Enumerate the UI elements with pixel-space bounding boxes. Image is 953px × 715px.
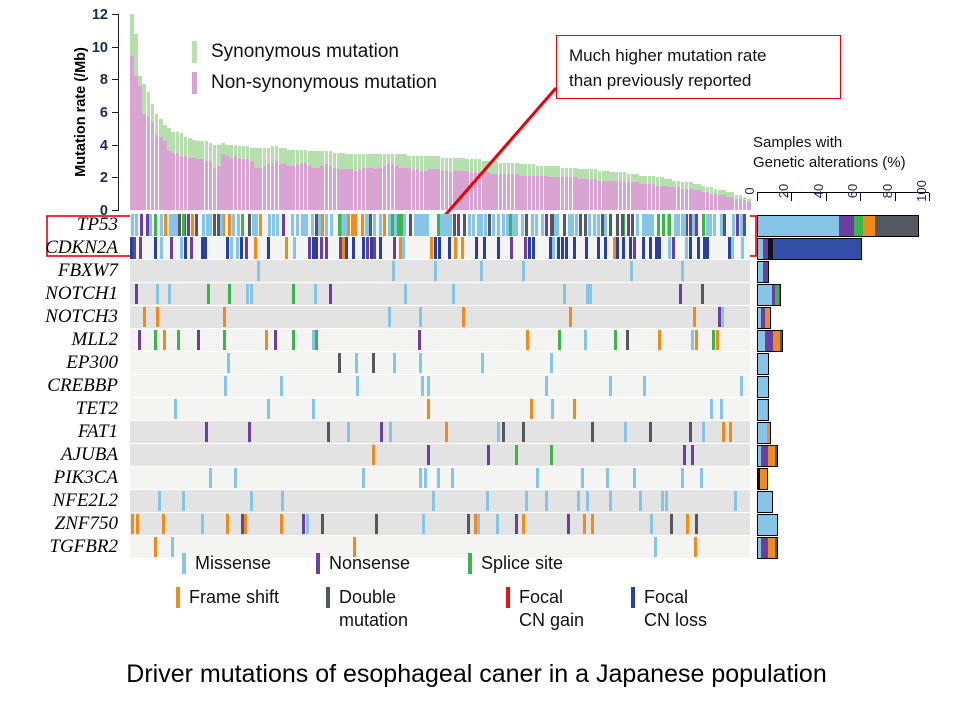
oncoprint-mark	[404, 284, 407, 304]
oncoprint-row-mll2	[130, 329, 750, 351]
bar-segment-synonymous	[176, 132, 180, 153]
bar-segment-non-synonymous	[188, 158, 192, 210]
oncoprint-mark	[320, 237, 323, 259]
oncoprint-mark	[237, 214, 240, 236]
bar-segment-non-synonymous	[474, 172, 478, 210]
oncoprint-mark	[712, 330, 715, 350]
oncoprint-mark	[670, 514, 673, 534]
oncoprint-mark	[154, 537, 157, 557]
bar-segment-non-synonymous	[610, 181, 614, 210]
bar-segment-non-synonymous	[180, 156, 184, 210]
bar-segment-non-synonymous	[652, 184, 656, 210]
bar-segment-synonymous	[494, 161, 498, 174]
bar-segment-non-synonymous	[689, 189, 693, 210]
percent-segment	[758, 377, 768, 397]
oncoprint-mark	[588, 214, 591, 236]
gene-label-pik3ca: PIK3CA	[0, 467, 126, 490]
oncoprint-mark	[486, 491, 489, 511]
oncoprint-mark	[541, 214, 544, 236]
oncoprint-mark	[388, 307, 391, 327]
double-mutation-swatch-icon	[326, 587, 330, 608]
bar-segment-non-synonymous	[449, 172, 453, 210]
oncoprint-mark	[154, 330, 157, 350]
legend-item-missense: Missense	[182, 552, 271, 575]
bar-segment-synonymous	[635, 174, 639, 182]
oncoprint-mark	[551, 399, 554, 419]
oncoprint-mark	[293, 237, 296, 259]
oncoprint-mark	[168, 284, 171, 304]
bar-segment-synonymous	[544, 166, 548, 176]
percent-segment	[768, 446, 775, 466]
gene-label-znf750: ZNF750	[0, 513, 126, 536]
oncoprint-mark	[528, 237, 531, 259]
oncoprint-mark	[536, 468, 539, 488]
gene-label-mll2: MLL2	[0, 329, 126, 352]
oncoprint-mark	[280, 514, 283, 534]
bar-segment-non-synonymous	[470, 172, 474, 210]
mutation-rate-bar	[544, 14, 548, 210]
y-axis-tick-label: 2	[100, 170, 108, 186]
bar-segment-synonymous	[250, 148, 254, 161]
oncoprint-mark	[557, 237, 560, 259]
oncoprint-mark	[171, 537, 174, 557]
mutation-rate-bar	[532, 14, 536, 210]
oncoprint-mark	[732, 214, 735, 236]
oncoprint-row-notch3	[130, 306, 750, 328]
percent-row-znf750	[757, 513, 937, 536]
oncoprint-mark	[567, 514, 570, 534]
percent-bar-tet2	[757, 399, 769, 421]
percent-bar-znf750	[757, 514, 778, 536]
oncoprint-mark	[321, 514, 324, 534]
bar-segment-non-synonymous	[672, 187, 676, 210]
oncoprint-mark	[209, 468, 212, 488]
bar-segment-synonymous	[561, 168, 565, 178]
gene-label-tgfbr2: TGFBR2	[0, 536, 126, 559]
bar-segment-non-synonymous	[320, 166, 324, 210]
percent-segment	[758, 285, 772, 305]
oncoprint-mark	[521, 214, 524, 236]
oncoprint-mark	[314, 284, 317, 304]
gene-label-fat1: FAT1	[0, 421, 126, 444]
percent-panel-title: Samples with Genetic alterations (%)	[753, 133, 906, 173]
gene-label-tp53: TP53	[0, 214, 126, 237]
bar-segment-synonymous	[585, 169, 589, 179]
bar-segment-synonymous	[581, 169, 585, 179]
legend-item-focal-cn-gain: FocalCN gain	[506, 586, 584, 632]
oncoprint-mark	[175, 214, 178, 236]
oncoprint-mark	[265, 330, 268, 350]
bar-segment-synonymous	[209, 143, 213, 161]
oncoprint-mark	[257, 261, 260, 281]
oncoprint-mark	[389, 422, 392, 442]
bar-segment-synonymous	[432, 156, 436, 169]
bar-segment-non-synonymous	[213, 168, 217, 210]
bar-segment-non-synonymous	[457, 171, 461, 210]
bar-segment-non-synonymous	[701, 192, 705, 210]
oncoprint-mark	[461, 237, 464, 259]
bar-segment-synonymous	[287, 150, 291, 166]
percent-bar-fbxw7	[757, 261, 769, 283]
oncoprint-mark	[565, 237, 568, 259]
oncoprint-mark	[563, 214, 566, 236]
bar-segment-non-synonymous	[635, 182, 639, 210]
bar-segment-non-synonymous	[387, 164, 391, 210]
bar-segment-non-synonymous	[722, 195, 726, 210]
oncoprint-mark	[230, 237, 233, 259]
bar-segment-synonymous	[507, 163, 511, 174]
callout-line-1: Much higher mutation rate	[569, 43, 830, 68]
bar-segment-synonymous	[395, 154, 399, 165]
bar-segment-synonymous	[602, 171, 606, 181]
oncoprint-mark	[525, 491, 528, 511]
bar-segment-non-synonymous	[668, 187, 672, 210]
oncoprint-mark	[302, 514, 305, 534]
bar-segment-non-synonymous	[569, 177, 573, 210]
oncoprint-mark	[276, 214, 279, 236]
legend-label: FocalCN gain	[519, 586, 584, 632]
bar-segment-non-synonymous	[482, 172, 486, 210]
bar-segment-non-synonymous	[581, 179, 585, 210]
oncoprint-mark	[736, 214, 739, 236]
mutation-rate-bar	[176, 14, 180, 210]
percent-axis-tick	[860, 193, 861, 201]
oncoprint-mark	[530, 399, 533, 419]
bar-segment-synonymous	[134, 34, 138, 76]
oncoprint-mark	[515, 445, 518, 465]
bar-segment-non-synonymous	[283, 164, 287, 210]
bar-segment-synonymous	[511, 163, 515, 174]
oncoprint-mark	[291, 214, 294, 236]
mutation-rate-bar	[445, 14, 449, 210]
oncoprint-mark	[245, 237, 248, 259]
bar-segment-synonymous	[606, 171, 610, 181]
oncoprint-mark	[497, 422, 500, 442]
oncoprint-mark	[369, 214, 372, 236]
oncoprint-mark	[403, 214, 406, 236]
bar-segment-synonymous	[163, 125, 167, 141]
oncoprint-mark	[728, 237, 731, 259]
oncoprint-mark	[550, 445, 553, 465]
bar-segment-non-synonymous	[234, 156, 238, 210]
bar-segment-non-synonymous	[561, 177, 565, 210]
oncoprint-mark	[657, 214, 660, 236]
oncoprint-mark	[285, 237, 288, 259]
bar-segment-non-synonymous	[656, 186, 660, 211]
bar-segment-synonymous	[424, 156, 428, 171]
mutation-rate-bar	[523, 14, 527, 210]
oncoprint-mark	[312, 399, 315, 419]
oncoprint-mark	[609, 376, 612, 396]
oncoprint-mark	[636, 214, 639, 236]
oncoprint-mark	[318, 214, 321, 236]
bar-segment-non-synonymous	[441, 171, 445, 210]
oncoprint-mark	[131, 214, 134, 236]
legend-item-synonymous: Synonymous mutation	[192, 36, 437, 67]
oncoprint-mark	[586, 491, 589, 511]
oncoprint-mark	[626, 330, 629, 350]
oncoprint-mark	[515, 214, 518, 236]
oncoprint-mark	[191, 214, 194, 236]
legend-label-non-synonymous: Non-synonymous mutation	[211, 72, 437, 94]
oncoprint-mark	[325, 237, 328, 259]
bar-segment-non-synonymous	[623, 182, 627, 210]
oncoprint-mark	[274, 330, 277, 350]
non-synonymous-swatch-icon	[192, 72, 197, 94]
legend-item-focal-cn-loss: FocalCN loss	[631, 586, 707, 632]
mutation-rate-bar	[548, 14, 552, 210]
bar-segment-synonymous	[337, 153, 341, 169]
oncoprint-mark	[140, 214, 143, 236]
oncoprint-mark	[321, 214, 324, 236]
oncoprint-mark	[370, 237, 373, 259]
bar-segment-non-synonymous	[739, 199, 743, 210]
oncoprint-mark	[621, 214, 624, 236]
y-axis-tick: 4	[112, 145, 119, 146]
bar-segment-non-synonymous	[383, 166, 387, 210]
percent-bar-tp53	[757, 215, 919, 237]
oncoprint-mark	[601, 214, 604, 236]
mutation-rate-bar	[503, 14, 507, 210]
bar-segment-synonymous	[515, 163, 519, 174]
bar-segment-synonymous	[536, 166, 540, 176]
bar-segment-non-synonymous	[573, 177, 577, 210]
bar-segment-non-synonymous	[606, 181, 610, 210]
bar-segment-synonymous	[474, 159, 478, 172]
oncoprint-mark	[697, 237, 700, 259]
oncoprint-mark	[182, 214, 185, 236]
oncoprint-mark	[136, 514, 139, 534]
oncoprint-mark	[604, 214, 607, 236]
figure-root: Mutation rate (/Mb) 024681012 Synonymous…	[0, 0, 953, 715]
bar-segment-synonymous	[660, 177, 664, 185]
bar-segment-synonymous	[316, 151, 320, 167]
bar-segment-synonymous	[329, 151, 333, 166]
oncoprint-mark	[589, 284, 592, 304]
oncoprint-mark	[710, 399, 713, 419]
oncoprint-mark	[691, 330, 694, 350]
oncoprint-mark	[701, 284, 704, 304]
focal-cn-loss-swatch-icon	[631, 587, 635, 608]
bar-segment-non-synonymous	[453, 171, 457, 210]
bar-segment-non-synonymous	[490, 174, 494, 210]
oncoprint-mark	[658, 237, 661, 259]
gene-label-fbxw7: FBXW7	[0, 260, 126, 283]
mutation-rate-bar	[494, 14, 498, 210]
oncoprint-mark	[315, 330, 318, 350]
oncoprint-mark	[399, 237, 402, 259]
bar-segment-synonymous	[205, 141, 209, 161]
oncoprint-mark	[525, 214, 528, 236]
bar-segment-non-synonymous	[735, 199, 739, 210]
oncoprint-mark	[311, 214, 314, 236]
oncoprint-mark	[419, 307, 422, 327]
oncoprint-mark	[689, 422, 692, 442]
oncoprint-mark	[706, 214, 709, 236]
bar-segment-non-synonymous	[250, 161, 254, 210]
oncoprint-mark	[452, 284, 455, 304]
oncoprint-mark	[586, 284, 589, 304]
oncoprint-mark	[642, 237, 645, 259]
oncoprint-row-nfe2l2	[130, 490, 750, 512]
oncoprint-mark	[139, 237, 142, 259]
mutation-rate-bar	[528, 14, 532, 210]
oncoprint-mark	[362, 468, 365, 488]
oncoprint-mark	[522, 261, 525, 281]
mutation-rate-bar	[167, 14, 171, 210]
oncoprint-mark	[226, 514, 229, 534]
oncoprint-mark	[232, 214, 235, 236]
bar-segment-synonymous	[573, 168, 577, 178]
percent-axis-tick-label: 0	[742, 187, 757, 194]
oncoprint-mark	[162, 514, 165, 534]
oncoprint-mark	[685, 237, 688, 259]
oncoprint-mark	[156, 307, 159, 327]
bar-segment-non-synonymous	[242, 159, 246, 210]
oncoprint-mark	[633, 237, 636, 259]
bar-segment-non-synonymous	[354, 171, 358, 210]
bar-segment-synonymous	[138, 76, 142, 86]
oncoprint-mark	[418, 330, 421, 350]
mutation-rate-bar	[155, 14, 159, 210]
oncoprint-mark	[622, 237, 625, 259]
oncoprint-mark	[308, 237, 311, 259]
oncoprint-mark	[169, 214, 172, 236]
oncoprint-mark	[228, 284, 231, 304]
bar-segment-non-synonymous	[171, 153, 175, 210]
oncoprint-mark	[414, 214, 417, 236]
percent-bar-mll2	[757, 330, 783, 352]
oncoprint-mark	[575, 214, 578, 236]
oncoprint-mark	[437, 214, 440, 236]
mutation-rate-bar	[478, 14, 482, 210]
percent-row-crebbp	[757, 375, 937, 398]
bar-segment-non-synonymous	[499, 174, 503, 210]
oncoprint-mark	[422, 514, 425, 534]
oncoprint-mark	[250, 284, 253, 304]
percent-row-ajuba	[757, 444, 937, 467]
oncoprint-mark	[515, 514, 518, 534]
oncoprint-mark	[133, 237, 136, 259]
bar-segment-non-synonymous	[378, 168, 382, 210]
bar-segment-synonymous	[147, 92, 151, 117]
oncoprint-mark	[379, 237, 382, 259]
oncoprint-mark	[577, 491, 580, 511]
oncoprint-mark	[613, 237, 616, 259]
oncoprint-mark	[182, 491, 185, 511]
figure-caption: Driver mutations of esophageal caner in …	[0, 660, 953, 689]
callout-line-2: than previously reported	[569, 68, 830, 93]
oncoprint-mark	[205, 422, 208, 442]
oncoprint-mark	[556, 214, 559, 236]
bar-segment-non-synonymous	[217, 166, 221, 210]
bar-segment-non-synonymous	[465, 171, 469, 210]
oncoprint-mark	[686, 514, 689, 534]
bar-segment-synonymous	[362, 154, 366, 167]
oncoprint-mark	[549, 237, 552, 259]
bar-segment-synonymous	[668, 179, 672, 187]
oncoprint-mark	[373, 237, 376, 259]
oncoprint-mark	[449, 214, 452, 236]
bar-segment-synonymous	[614, 172, 618, 180]
oncoprint-mark	[462, 307, 465, 327]
bar-segment-synonymous	[188, 138, 192, 158]
bar-segment-non-synonymous	[151, 122, 155, 210]
bar-segment-synonymous	[267, 148, 271, 164]
bar-segment-synonymous	[258, 148, 262, 168]
mutation-rate-bar	[465, 14, 469, 210]
bar-segment-non-synonymous	[333, 168, 337, 210]
bar-segment-non-synonymous	[345, 169, 349, 210]
oncoprint-mark	[438, 237, 441, 259]
oncoprint-mark	[468, 214, 471, 236]
percent-segment	[775, 446, 777, 466]
bar-segment-synonymous	[490, 161, 494, 174]
percent-segment	[875, 216, 918, 236]
mutation-rate-bar	[490, 14, 494, 210]
mutation-rate-bar	[540, 14, 544, 210]
percent-segment	[758, 216, 839, 236]
bar-segment-synonymous	[192, 140, 196, 158]
bar-segment-non-synonymous	[325, 164, 329, 210]
bar-segment-non-synonymous	[706, 192, 710, 210]
oncoprint-mark	[306, 514, 309, 534]
bar-segment-non-synonymous	[544, 176, 548, 210]
oncoprint-mark	[689, 237, 692, 259]
oncoprint-mark	[483, 237, 486, 259]
oncoprint-mark	[552, 237, 555, 259]
bar-segment-synonymous	[155, 114, 159, 135]
oncoprint-mark	[250, 491, 253, 511]
bar-segment-non-synonymous	[726, 197, 730, 210]
percent-axis-tick-label: 100	[914, 180, 929, 202]
oncoprint-mark	[420, 214, 423, 236]
oncoprint-mark	[325, 214, 328, 236]
bar-segment-synonymous	[528, 164, 532, 175]
oncoprint-mark	[597, 237, 600, 259]
oncoprint-mark	[281, 491, 284, 511]
percent-segment	[773, 239, 861, 259]
oncoprint-mark	[729, 422, 732, 442]
oncoprint-mark	[591, 422, 594, 442]
bar-segment-non-synonymous	[316, 168, 320, 210]
mutation-rate-bar	[151, 14, 155, 210]
oncoprint-mark	[629, 237, 632, 259]
bar-segment-non-synonymous	[374, 169, 378, 210]
bar-segment-non-synonymous	[747, 202, 751, 210]
oncoprint-mark	[661, 491, 664, 511]
mutation-rate-bar	[180, 14, 184, 210]
bar-segment-non-synonymous	[391, 164, 395, 210]
bar-segment-synonymous	[263, 148, 267, 166]
mutation-rate-bar	[482, 14, 486, 210]
oncoprint-mark	[677, 214, 680, 236]
oncoprint-mark	[292, 284, 295, 304]
bar-segment-synonymous	[296, 150, 300, 165]
oncoprint-mark	[184, 237, 187, 259]
oncoprint-mark	[149, 214, 152, 236]
bar-segment-synonymous	[217, 145, 221, 166]
gene-label-cdkn2a: CDKN2A	[0, 237, 126, 260]
percent-axis-tick-label: 60	[845, 184, 860, 198]
y-axis-tick: 12	[112, 14, 119, 15]
mutation-rate-bar	[163, 14, 167, 210]
oncoprint-mark	[372, 353, 375, 373]
oncoprint-mark	[693, 307, 696, 327]
percent-row-ep300	[757, 352, 937, 375]
mutation-rate-bar	[461, 14, 465, 210]
oncoprint-mark	[681, 468, 684, 488]
